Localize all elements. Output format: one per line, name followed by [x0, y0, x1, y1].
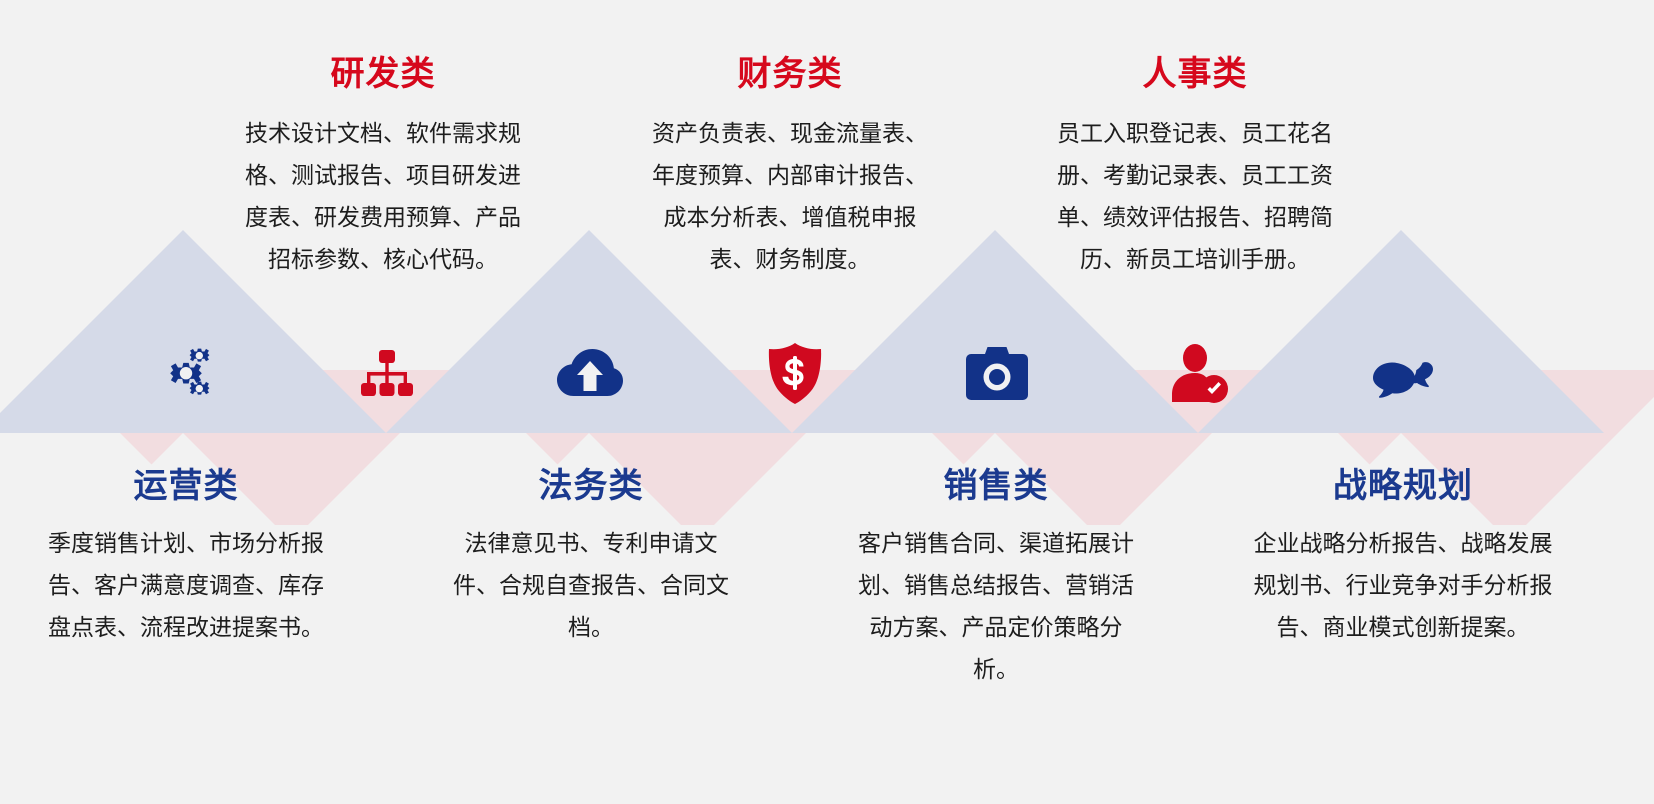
- category-body: 资产负责表、现金流量表、年度预算、内部审计报告、成本分析表、增值税申报表、财务制…: [645, 113, 935, 280]
- icon-row: [0, 338, 1654, 408]
- category-body: 企业战略分析报告、战略发展规划书、行业竞争对手分析报告、商业模式创新提案。: [1253, 523, 1553, 649]
- category-title: 销售类: [848, 468, 1144, 505]
- category-operations: 运营类 季度销售计划、市场分析报告、客户满意度调查、库存盘点表、流程改进提案书。: [38, 468, 334, 649]
- category-hr: 人事类 员工入职登记表、员工花名册、考勤记录表、员工工资单、绩效评估报告、招聘简…: [1050, 56, 1340, 281]
- category-sales: 销售类 客户销售合同、渠道拓展计划、销售总结报告、营销活动方案、产品定价策略分析…: [848, 468, 1144, 691]
- category-title: 研发类: [238, 56, 528, 93]
- category-title: 法务类: [443, 468, 739, 505]
- category-body: 客户销售合同、渠道拓展计划、销售总结报告、营销活动方案、产品定价策略分析。: [848, 523, 1144, 690]
- category-title: 财务类: [645, 56, 935, 93]
- category-title: 战略规划: [1253, 468, 1553, 505]
- category-body: 技术设计文档、软件需求规格、测试报告、项目研发进度表、研发费用预算、产品招标参数…: [238, 113, 528, 280]
- category-strategy: 战略规划 企业战略分析报告、战略发展规划书、行业竞争对手分析报告、商业模式创新提…: [1253, 468, 1553, 649]
- category-title: 运营类: [38, 468, 334, 505]
- category-finance: 财务类 资产负责表、现金流量表、年度预算、内部审计报告、成本分析表、增值税申报表…: [645, 56, 935, 281]
- user-verified-icon: [1165, 338, 1235, 408]
- cloud-upload-icon: [555, 338, 625, 408]
- category-title: 人事类: [1050, 56, 1340, 93]
- org-chart-icon: [352, 338, 422, 408]
- category-legal: 法务类 法律意见书、专利申请文件、合规自查报告、合同文档。: [443, 468, 739, 649]
- infographic-canvas: 研发类 技术设计文档、软件需求规格、测试报告、项目研发进度表、研发费用预算、产品…: [0, 0, 1654, 804]
- category-body: 员工入职登记表、员工花名册、考勤记录表、员工工资单、绩效评估报告、招聘简历、新员…: [1050, 113, 1340, 280]
- camera-icon: [962, 338, 1032, 408]
- category-body: 季度销售计划、市场分析报告、客户满意度调查、库存盘点表、流程改进提案书。: [38, 523, 334, 649]
- category-body: 法律意见书、专利申请文件、合规自查报告、合同文档。: [443, 523, 739, 649]
- gears-icon: [148, 338, 218, 408]
- category-rd: 研发类 技术设计文档、软件需求规格、测试报告、项目研发进度表、研发费用预算、产品…: [238, 56, 528, 281]
- shield-dollar-icon: [760, 338, 830, 408]
- chat-bubbles-icon: [1368, 338, 1438, 408]
